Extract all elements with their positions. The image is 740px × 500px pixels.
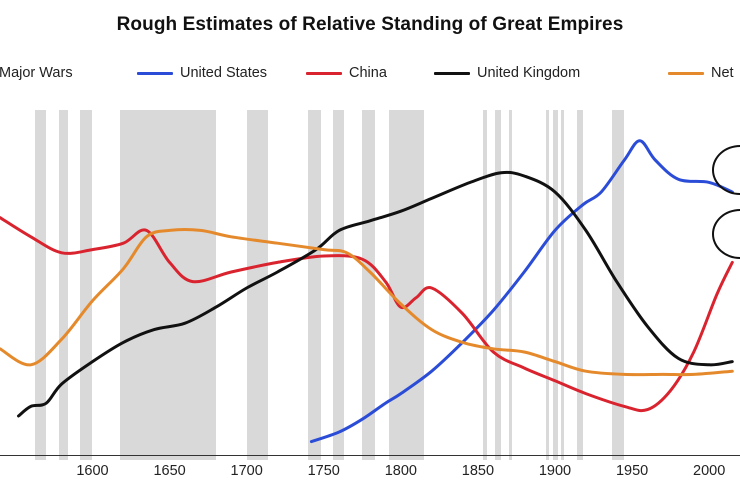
series-line-united-kingdom xyxy=(19,172,733,416)
x-tick-label: 1600 xyxy=(76,463,108,479)
legend-item-major-wars[interactable]: Major Wars xyxy=(0,60,73,86)
legend-label: Net xyxy=(711,65,734,81)
x-tick-label: 1700 xyxy=(231,463,263,479)
series-lines-layer xyxy=(0,110,740,460)
x-axis-line xyxy=(0,455,740,456)
chart-title: Rough Estimates of Relative Standing of … xyxy=(0,14,740,36)
legend-item-united-kingdom[interactable]: United Kingdom xyxy=(434,60,580,86)
x-tick-label: 1800 xyxy=(385,463,417,479)
legend-swatch-icon xyxy=(137,72,173,75)
x-tick-label: 2000 xyxy=(693,463,725,479)
chart-root: Rough Estimates of Relative Standing of … xyxy=(0,0,740,500)
legend-swatch-icon xyxy=(668,72,704,75)
legend-label: Major Wars xyxy=(0,65,73,81)
x-tick-label: 1900 xyxy=(539,463,571,479)
legend-item-china[interactable]: China xyxy=(306,60,387,86)
legend-item-net[interactable]: Net xyxy=(668,60,734,86)
plot-area xyxy=(0,110,740,460)
legend-item-united-states[interactable]: United States xyxy=(137,60,267,86)
legend-swatch-icon xyxy=(434,72,470,75)
legend-swatch-icon xyxy=(306,72,342,75)
series-line-netherlands xyxy=(0,230,732,375)
legend-label: China xyxy=(349,65,387,81)
x-tick-label: 1950 xyxy=(616,463,648,479)
legend-label: United Kingdom xyxy=(477,65,580,81)
series-line-united-states xyxy=(311,141,732,442)
legend-label: United States xyxy=(180,65,267,81)
x-axis: 160016501700175018001850190019502000 xyxy=(0,455,740,500)
chart-legend: Major WarsUnited StatesChinaUnited Kingd… xyxy=(0,60,740,86)
x-tick-label: 1750 xyxy=(308,463,340,479)
x-tick-label: 1650 xyxy=(153,463,185,479)
x-tick-label: 1850 xyxy=(462,463,494,479)
series-line-china xyxy=(0,218,732,411)
